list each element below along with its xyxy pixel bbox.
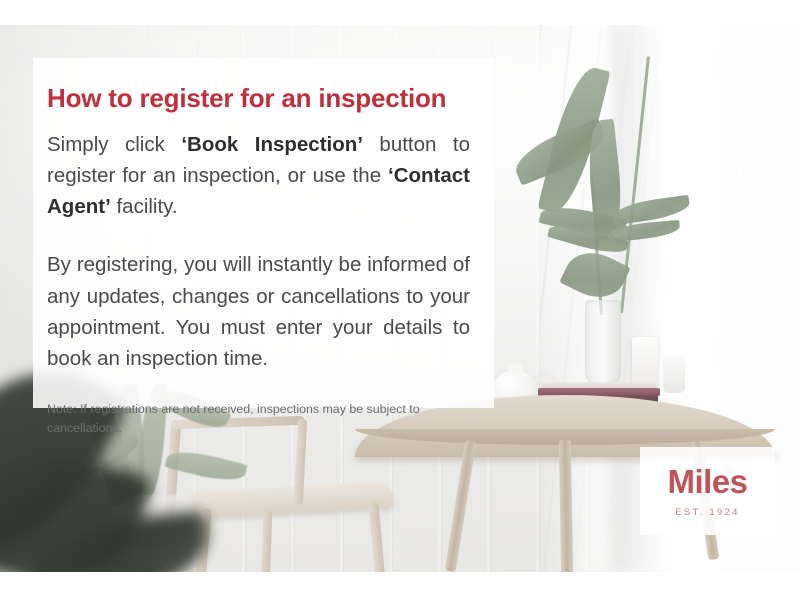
instruction-paragraph: Simply click ‘Book Inspection’ button to… xyxy=(47,129,472,222)
frame-top-border xyxy=(0,0,800,25)
teapot-lid xyxy=(508,363,523,373)
inspection-registration-graphic: How to register for an inspection Simply… xyxy=(0,0,800,600)
book-inspection-label: ‘Book Inspection’ xyxy=(181,133,363,156)
registration-paragraph: By registering, you will instantly be in… xyxy=(47,249,472,374)
brand-name: Miles xyxy=(667,465,747,498)
glass-vase xyxy=(585,300,621,385)
copy-panel: How to register for an inspection Simply… xyxy=(33,58,494,408)
brand-logo: Miles EST. 1924 xyxy=(640,447,775,535)
page-title: How to register for an inspection xyxy=(47,84,472,114)
table-leg xyxy=(559,440,573,572)
cancellation-note: Note: If registrations are not received,… xyxy=(47,400,472,437)
brand-established: EST. 1924 xyxy=(675,507,740,518)
frame-bottom-border xyxy=(0,572,800,600)
glass-jar xyxy=(663,355,685,393)
instruction-text-1: Simply click xyxy=(47,133,181,156)
instruction-text-3: facility. xyxy=(111,195,178,218)
